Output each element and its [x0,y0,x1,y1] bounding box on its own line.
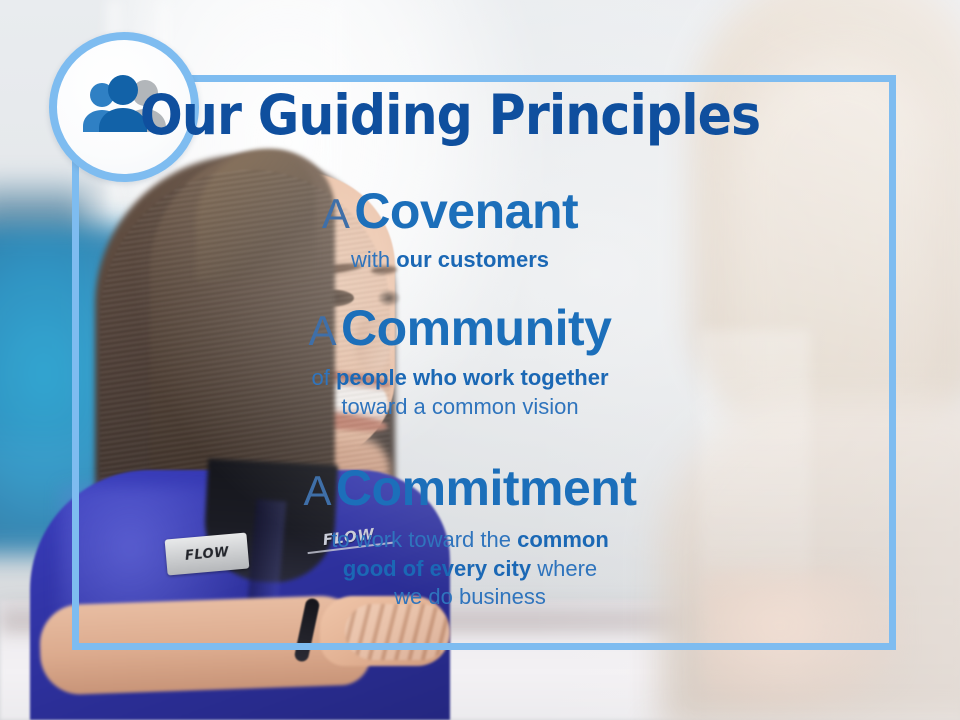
principle-subtext: to work toward the common good of every … [0,526,940,612]
guiding-principles-graphic: FLOW FLOW Our Guiding Principles A [0,0,960,720]
subtext-part-bold: our customers [396,247,549,272]
principle-word: Covenant [354,183,578,239]
subtext-part: to work toward the [331,527,517,552]
subtext-part: of [311,365,335,390]
subtext-part-bold: good of every city [343,556,531,581]
principle-article: A [322,190,350,237]
principle-heading: A Covenant [0,186,900,237]
principle-word: Community [341,300,612,356]
subtext-line: to work toward the common [0,526,940,555]
page-title: Our Guiding Principles [36,88,864,143]
principle-subtext: with our customers [0,246,900,275]
principle-subtext: of people who work together toward a com… [0,364,920,421]
subtext-part: with [351,247,396,272]
principle-article: A [309,307,337,354]
subtext-part-bold: people who work together [336,365,609,390]
associate-fingers [345,604,450,660]
subtext-line: with our customers [0,246,900,275]
subtext-line: good of every city where [0,555,940,584]
subtext-line: of people who work together [0,364,920,393]
principle-word: Commitment [336,460,637,516]
subtext-line: toward a common vision [0,393,920,422]
subtext-line: we do business [0,583,940,612]
principle-commitment: A Commitment to work toward the common g… [0,463,940,612]
subtext-part-bold: common [517,527,609,552]
principle-covenant: A Covenant with our customers [0,186,900,275]
principle-article: A [303,467,331,514]
principle-heading: A Community [0,303,920,354]
principle-heading: A Commitment [0,463,940,514]
principle-community: A Community of people who work together … [0,303,920,421]
subtext-part: where [531,556,597,581]
